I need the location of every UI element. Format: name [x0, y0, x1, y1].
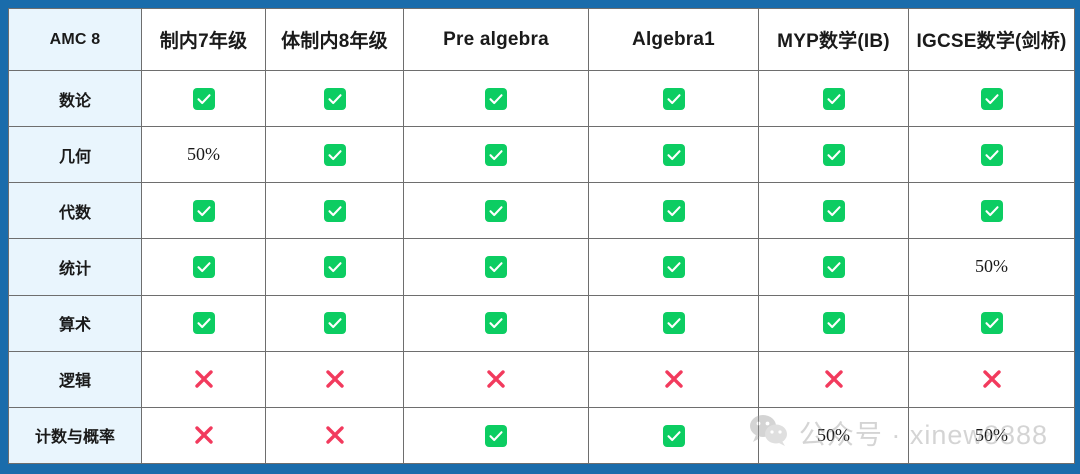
column-header-g8: 体制内8年级 — [266, 9, 404, 71]
row-label: 计数与概率 — [9, 407, 142, 463]
cell-g7 — [142, 407, 266, 463]
check-icon — [981, 200, 1003, 222]
cell-pre — [404, 127, 589, 183]
table-row: 几何50% — [9, 127, 1075, 183]
check-icon — [823, 88, 845, 110]
check-icon — [193, 312, 215, 334]
cell-g7 — [142, 239, 266, 295]
check-icon — [485, 144, 507, 166]
cell-igcse — [909, 71, 1075, 127]
cell-pre — [404, 239, 589, 295]
cell-alg — [589, 183, 759, 239]
check-icon — [663, 144, 685, 166]
check-icon — [485, 200, 507, 222]
table-row: 数论 — [9, 71, 1075, 127]
cell-g8 — [266, 71, 404, 127]
cross-icon — [323, 367, 347, 391]
check-icon — [823, 312, 845, 334]
cell-myp — [759, 351, 909, 407]
row-label: 代数 — [9, 183, 142, 239]
check-icon — [823, 144, 845, 166]
cell-pre — [404, 71, 589, 127]
check-icon — [663, 425, 685, 447]
cell-g7: 50% — [142, 127, 266, 183]
row-label: 数论 — [9, 71, 142, 127]
cell-g7 — [142, 183, 266, 239]
cell-pre — [404, 183, 589, 239]
percent-value: 50% — [975, 256, 1008, 276]
cell-myp — [759, 183, 909, 239]
cell-pre — [404, 295, 589, 351]
row-label: 逻辑 — [9, 351, 142, 407]
check-icon — [324, 200, 346, 222]
header-row: AMC 8制内7年级体制内8年级Pre algebraAlgebra1MYP数学… — [9, 9, 1075, 71]
check-icon — [981, 144, 1003, 166]
cross-icon — [662, 367, 686, 391]
check-icon — [485, 88, 507, 110]
cross-icon — [484, 367, 508, 391]
cell-g8 — [266, 239, 404, 295]
cross-icon — [822, 367, 846, 391]
check-icon — [663, 200, 685, 222]
cell-g8 — [266, 127, 404, 183]
cell-myp — [759, 239, 909, 295]
cell-alg — [589, 127, 759, 183]
check-icon — [663, 256, 685, 278]
cross-icon — [980, 367, 1004, 391]
check-icon — [193, 200, 215, 222]
column-header-g7: 制内7年级 — [142, 9, 266, 71]
check-icon — [193, 256, 215, 278]
percent-value: 50% — [187, 144, 220, 164]
check-icon — [485, 425, 507, 447]
cell-g7 — [142, 71, 266, 127]
cell-g7 — [142, 351, 266, 407]
row-label: 几何 — [9, 127, 142, 183]
cell-alg — [589, 351, 759, 407]
cell-alg — [589, 71, 759, 127]
column-header-myp: MYP数学(IB) — [759, 9, 909, 71]
cell-alg — [589, 295, 759, 351]
row-label: 算术 — [9, 295, 142, 351]
column-header-label: AMC 8 — [9, 9, 142, 71]
check-icon — [324, 312, 346, 334]
column-header-pre: Pre algebra — [404, 9, 589, 71]
check-icon — [663, 312, 685, 334]
cross-icon — [192, 367, 216, 391]
column-header-igcse: IGCSE数学(剑桥) — [909, 9, 1075, 71]
table-row: 统计50% — [9, 239, 1075, 295]
check-icon — [193, 88, 215, 110]
cell-alg — [589, 239, 759, 295]
curriculum-comparison-table: AMC 8制内7年级体制内8年级Pre algebraAlgebra1MYP数学… — [8, 8, 1075, 464]
cell-pre — [404, 407, 589, 463]
cell-alg — [589, 407, 759, 463]
table-row: 代数 — [9, 183, 1075, 239]
cell-igcse — [909, 295, 1075, 351]
check-icon — [663, 88, 685, 110]
check-icon — [324, 88, 346, 110]
percent-value: 50% — [817, 425, 850, 445]
check-icon — [823, 256, 845, 278]
cell-g7 — [142, 295, 266, 351]
check-icon — [485, 256, 507, 278]
cell-myp — [759, 71, 909, 127]
cell-pre — [404, 351, 589, 407]
column-header-alg: Algebra1 — [589, 9, 759, 71]
cell-myp — [759, 127, 909, 183]
check-icon — [324, 144, 346, 166]
check-icon — [981, 312, 1003, 334]
cell-igcse — [909, 351, 1075, 407]
cell-igcse: 50% — [909, 407, 1075, 463]
table-row: 逻辑 — [9, 351, 1075, 407]
cell-myp — [759, 295, 909, 351]
cell-igcse: 50% — [909, 239, 1075, 295]
table-body: 数论几何50%代数统计50%算术逻辑计数与概率50%50% — [9, 71, 1075, 464]
check-icon — [485, 312, 507, 334]
cross-icon — [323, 423, 347, 447]
table-frame: AMC 8制内7年级体制内8年级Pre algebraAlgebra1MYP数学… — [0, 0, 1080, 474]
cell-g8 — [266, 183, 404, 239]
cell-g8 — [266, 407, 404, 463]
cell-igcse — [909, 183, 1075, 239]
table-row: 算术 — [9, 295, 1075, 351]
check-icon — [981, 88, 1003, 110]
table-header: AMC 8制内7年级体制内8年级Pre algebraAlgebra1MYP数学… — [9, 9, 1075, 71]
cell-igcse — [909, 127, 1075, 183]
table-row: 计数与概率50%50% — [9, 407, 1075, 463]
check-icon — [324, 256, 346, 278]
cell-myp: 50% — [759, 407, 909, 463]
cell-g8 — [266, 295, 404, 351]
percent-value: 50% — [975, 425, 1008, 445]
check-icon — [823, 200, 845, 222]
cell-g8 — [266, 351, 404, 407]
cross-icon — [192, 423, 216, 447]
row-label: 统计 — [9, 239, 142, 295]
